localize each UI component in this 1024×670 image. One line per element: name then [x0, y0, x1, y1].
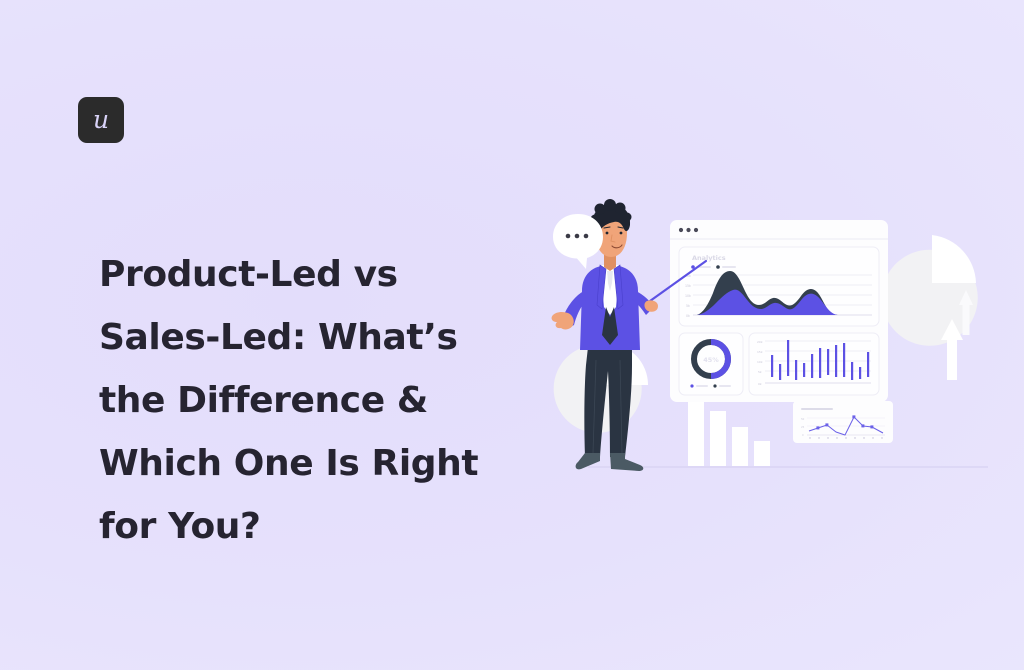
svg-text:10k: 10k	[685, 294, 691, 298]
svg-text:0k: 0k	[758, 382, 762, 386]
hero-banner: u Product-Led vs Sales-Led: What’s the D…	[0, 0, 1024, 670]
svg-text:5k: 5k	[686, 304, 690, 308]
donut-center-label: 45%	[703, 356, 719, 364]
svg-text:10k: 10k	[757, 360, 763, 364]
activity-bar-chart[interactable]: 20k 15k 10k 5k 0k	[749, 333, 879, 395]
hero-illustration: Analytics 20k 15k 10k 5k 0k	[540, 195, 1010, 495]
userpilot-logo[interactable]: u	[78, 97, 124, 143]
page-title: Product-Led vs Sales-Led: What’s the Dif…	[99, 243, 529, 558]
speech-bubble	[553, 214, 603, 269]
analytics-chart-title: Analytics	[692, 254, 726, 262]
svg-text:0k: 0k	[686, 314, 690, 318]
logo-glyph: u	[93, 107, 109, 132]
svg-text:15k: 15k	[757, 350, 763, 354]
shoe-right	[610, 453, 643, 471]
ellipsis-icon	[566, 234, 589, 239]
svg-text:20k: 20k	[757, 340, 763, 344]
trend-line-chart[interactable]: 50 25 0	[793, 401, 893, 443]
svg-text:25: 25	[801, 425, 805, 429]
svg-text:5k: 5k	[758, 370, 762, 374]
svg-text:50: 50	[801, 417, 805, 421]
analytics-area-chart[interactable]: Analytics 20k 15k 10k 5k 0k	[679, 247, 879, 326]
hand-left	[552, 312, 574, 329]
window-dots-icon	[679, 228, 698, 232]
completion-donut-chart[interactable]: 45%	[679, 333, 743, 395]
svg-text:15k: 15k	[685, 284, 691, 288]
dashboard-window[interactable]: Analytics 20k 15k 10k 5k 0k	[670, 220, 888, 402]
decorative-bar-chart	[688, 398, 770, 466]
